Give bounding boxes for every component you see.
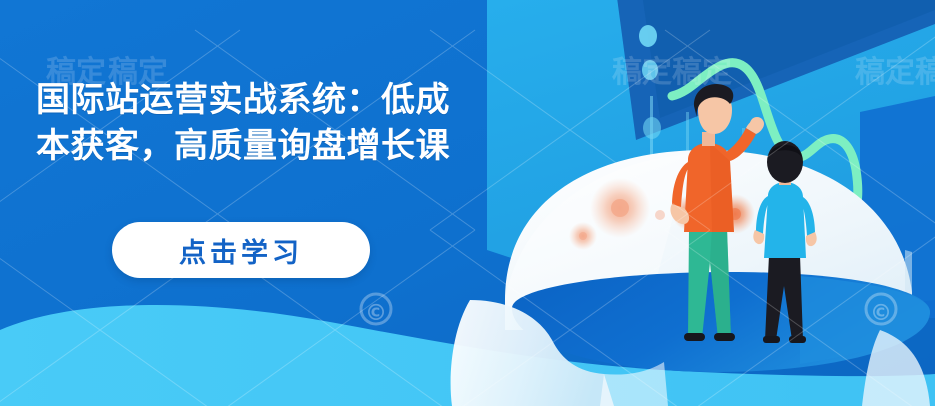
headline-block: 国际站运营实战系统：低成 本获客，高质量询盘增长课 xyxy=(36,78,616,169)
decor-dot xyxy=(642,60,658,80)
course-promo-banner: 稿定 稿定 稿定 稿定 稿定 稿定 © © 国际站运营实战系统：低成 本获客，高… xyxy=(0,0,935,406)
illustration xyxy=(0,0,935,406)
cta-learn-button[interactable]: 点击学习 xyxy=(112,222,370,278)
white-ribbon-tail xyxy=(600,362,668,406)
decor-dot xyxy=(639,25,657,47)
page-title: 国际站运营实战系统：低成 本获客，高质量询盘增长课 xyxy=(36,78,616,169)
decor-dot xyxy=(643,117,661,139)
